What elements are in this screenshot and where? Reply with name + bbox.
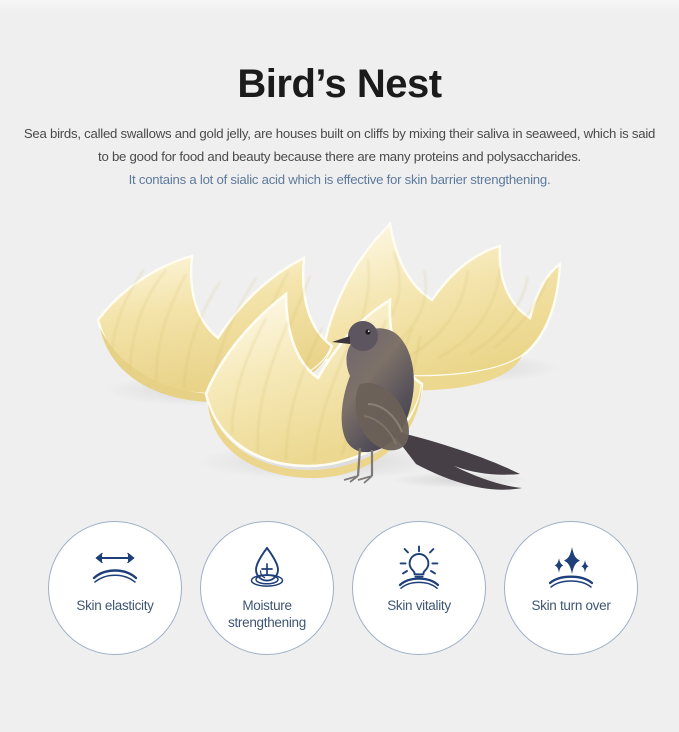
birds-nest-hero-image (60, 208, 620, 500)
feature-benefits-row: Skin elasticity Moisture stre (0, 521, 679, 661)
feature-circle-skin-elasticity[interactable]: Skin elasticity (48, 521, 182, 655)
product-detail-page: Bird’s Nest Sea birds, called swallows a… (0, 0, 679, 732)
sparkle-icon (541, 545, 601, 589)
description-highlight: It contains a lot of sialic acid which i… (18, 168, 661, 191)
bird-eye (365, 329, 370, 334)
arrow-stretch-icon (85, 545, 145, 589)
feature-label-line-2: strengthening (228, 615, 306, 630)
feature-label: Skin vitality (357, 598, 481, 615)
water-drop-plus-icon (237, 545, 297, 589)
feature-label-line-1: Moisture (242, 598, 291, 613)
lightbulb-rays-icon (389, 545, 449, 589)
feature-label: Skin turn over (509, 598, 633, 615)
feature-label: Skin elasticity (53, 598, 177, 615)
feature-circle-skin-turn-over[interactable]: Skin turn over (504, 521, 638, 655)
page-description: Sea birds, called swallows and gold jell… (18, 122, 661, 191)
feature-label: Moisture strengthening (205, 598, 329, 632)
feature-circle-moisture-strengthening[interactable]: Moisture strengthening (200, 521, 334, 655)
description-line-1: Sea birds, called swallows and gold jell… (24, 126, 580, 141)
page-title: Bird’s Nest (0, 62, 679, 106)
top-gradient-band (0, 0, 679, 14)
feature-circle-skin-vitality[interactable]: Skin vitality (352, 521, 486, 655)
